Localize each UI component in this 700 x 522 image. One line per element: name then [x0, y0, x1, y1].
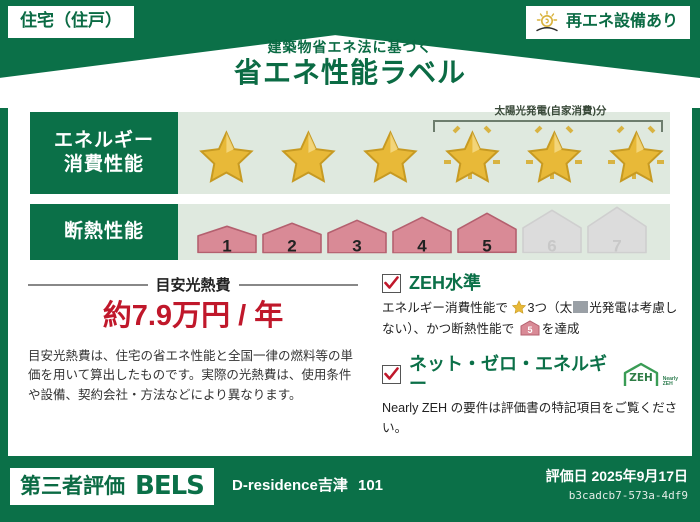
claim-net-zero-energy-title: ネット・ゼロ・エネルギー	[409, 355, 609, 395]
energy-label-line-1: エネルギー	[54, 129, 154, 153]
insulation-grade-3: 3	[326, 218, 388, 259]
zeh-sub-line-2: ZEH	[663, 382, 678, 387]
energy-star-2	[268, 122, 348, 184]
inline-star-icon	[512, 300, 526, 321]
insulation-grade-number: 5	[456, 238, 518, 255]
claim-net-zero-energy-body: Nearly ZEH の要件は評価書の特記項目をご覧ください。	[382, 399, 678, 438]
house-type-chip: 住宅（住戸）	[8, 6, 134, 38]
insulation-grade-number: 7	[586, 238, 648, 255]
energy-star-rating	[186, 122, 676, 184]
certification-claims: ZEH水準 エネルギー消費性能で 3つ（太光発電は考慮しない）、かつ断熱性能で …	[382, 274, 678, 450]
estimated-cost-heading: 目安光熱費	[28, 274, 358, 295]
claim-text-part-2: 3つ（太	[527, 301, 572, 315]
claim-zeh-level-header: ZEH水準	[382, 274, 678, 294]
evaluation-date: 評価日 2025年9月17日	[546, 468, 688, 485]
label-title: 省エネ性能ラベル	[0, 58, 700, 89]
insulation-grade-number: 4	[391, 238, 453, 255]
insulation-grade-number: 6	[521, 238, 583, 255]
claim-zeh-level: ZEH水準 エネルギー消費性能で 3つ（太光発電は考慮しない）、かつ断熱性能で …	[382, 274, 678, 343]
renewable-equipment-label: 再エネ設備あり	[566, 13, 678, 31]
label-footer: 第三者評価 BELS D-residence吉津 101 評価日 2025年9月…	[0, 456, 700, 522]
insulation-label-text: 断熱性能	[64, 220, 144, 244]
claim-zeh-level-title: ZEH水準	[409, 274, 481, 294]
claim-net-zero-energy: ネット・ゼロ・エネルギー ZEH Nearly ZEH Nearly ZEH の…	[382, 355, 678, 439]
solar-self-consumption-caption: 太陽光発電(自家消費)分	[428, 106, 673, 118]
energy-label-line-2: 消費性能	[64, 153, 144, 177]
label-subtitle: 建築物省エネ法に基づく	[0, 40, 700, 55]
insulation-grade-1: 1	[196, 225, 258, 259]
redaction-block	[573, 301, 588, 313]
zeh-logo: ZEH Nearly ZEH	[621, 362, 678, 388]
energy-performance-label-cell: エネルギー 消費性能	[30, 112, 178, 194]
energy-star-3	[350, 122, 430, 184]
energy-star-5	[514, 122, 594, 184]
insulation-grade-7: 7	[586, 205, 648, 258]
evaluation-id: b3cadcb7-573a-4df9	[569, 489, 688, 502]
energy-star-4	[432, 122, 512, 184]
bels-certification-chip: 第三者評価 BELS	[10, 468, 214, 505]
estimated-cost-value: 約7.9万円 / 年	[28, 301, 358, 333]
building-unit-number: 101	[358, 478, 383, 493]
estimated-cost-heading-text: 目安光熱費	[156, 274, 231, 295]
claim-net-zero-energy-header: ネット・ゼロ・エネルギー ZEH Nearly ZEH	[382, 355, 678, 395]
sun-icon	[534, 10, 560, 34]
heading-rule-right	[239, 284, 359, 286]
energy-performance-label: 住宅（住戸） 再エネ設備あり 建築物省エネ法に基づく 省エネ性能ラベル	[0, 0, 700, 522]
zeh-logo-subtext: Nearly ZEH	[663, 377, 678, 388]
checkbox-checked-icon	[382, 274, 401, 293]
insulation-rating-area: 1 2 3 4 5 6 7	[178, 204, 670, 260]
svg-text:5: 5	[527, 325, 532, 335]
inline-grade-badge-icon: 5	[520, 320, 540, 343]
svg-text:ZEH: ZEH	[629, 372, 653, 384]
label-title-block: 建築物省エネ法に基づく 省エネ性能ラベル	[0, 40, 700, 89]
insulation-grade-2: 2	[261, 221, 323, 258]
insulation-grade-4: 4	[391, 215, 453, 259]
zeh-house-icon: ZEH	[621, 362, 661, 388]
insulation-grade-5: 5	[456, 212, 518, 259]
bels-logo-text: BELS	[135, 473, 204, 499]
checkbox-checked-icon	[382, 365, 401, 384]
claim-text-part-1: エネルギー消費性能で	[382, 301, 508, 315]
claim-zeh-level-body: エネルギー消費性能で 3つ（太光発電は考慮しない）、かつ断熱性能で 5 を達成	[382, 299, 678, 343]
energy-star-1	[186, 122, 266, 184]
building-name: D-residence吉津	[232, 478, 348, 493]
energy-rating-area: 太陽光発電(自家消費)分	[178, 112, 670, 194]
claim-text-part-4: を達成	[542, 322, 580, 336]
insulation-grade-number: 1	[196, 238, 258, 255]
insulation-grade-scale: 1 2 3 4 5 6 7	[196, 205, 648, 258]
heading-rule-left	[28, 284, 148, 286]
estimated-cost-note: 目安光熱費は、住宅の省エネ性能と全国一律の燃料等の単価を用いて算出したものです。…	[28, 347, 358, 405]
estimated-utility-cost-block: 目安光熱費 約7.9万円 / 年 目安光熱費は、住宅の省エネ性能と全国一律の燃料…	[28, 274, 358, 405]
insulation-performance-row: 断熱性能 1 2 3 4 5	[30, 204, 670, 260]
renewable-equipment-badge: 再エネ設備あり	[526, 6, 690, 39]
energy-performance-row: エネルギー 消費性能 太陽光発電(自家消費)分	[30, 112, 670, 194]
label-body-panel: エネルギー 消費性能 太陽光発電(自家消費)分	[8, 104, 692, 456]
third-party-evaluation-label: 第三者評価	[20, 476, 125, 497]
energy-star-6	[596, 122, 676, 184]
insulation-grade-6: 6	[521, 209, 583, 259]
insulation-grade-number: 2	[261, 238, 323, 255]
insulation-performance-label-cell: 断熱性能	[30, 204, 178, 260]
insulation-grade-number: 3	[326, 238, 388, 255]
